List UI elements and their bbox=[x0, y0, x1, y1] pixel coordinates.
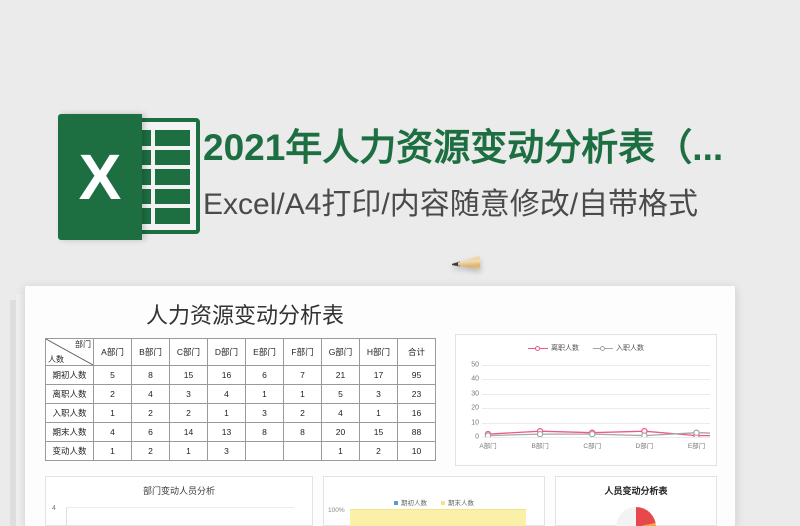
table-cell: 4 bbox=[208, 385, 246, 404]
legend-label: 期末人数 bbox=[448, 500, 474, 507]
legend-label: 入职人数 bbox=[616, 343, 644, 353]
table-cell: 2 bbox=[94, 385, 132, 404]
table-cell: 88 bbox=[398, 423, 436, 442]
table-cell: 1 bbox=[322, 442, 360, 461]
pencil-body bbox=[478, 237, 782, 269]
line-chart-legend: 离职人数入职人数 bbox=[456, 343, 716, 353]
pie-chart-panel: 人员变动分析表 bbox=[555, 476, 717, 526]
table-cell: 15 bbox=[360, 423, 398, 442]
table-cell bbox=[246, 442, 284, 461]
series-line-0 bbox=[488, 404, 710, 436]
table-row-header-0: 期初人数 bbox=[46, 366, 94, 385]
legend-label: 离职人数 bbox=[551, 343, 579, 353]
legend-item-1: 入职人数 bbox=[593, 343, 644, 353]
table-corner-cell: 部门人数 bbox=[46, 339, 94, 366]
legend-label: 期初人数 bbox=[401, 500, 427, 507]
table-cell: 13 bbox=[208, 423, 246, 442]
table-cell: 4 bbox=[94, 423, 132, 442]
x-axis-tick-0: A部门 bbox=[479, 440, 496, 450]
dept-change-chart-title: 部门变动人员分析 bbox=[46, 484, 312, 497]
series-point bbox=[694, 430, 699, 435]
corner-bottom-label: 人数 bbox=[48, 354, 64, 365]
legend-marker-icon bbox=[528, 345, 548, 352]
table-cell: 1 bbox=[246, 385, 284, 404]
series-point bbox=[590, 432, 595, 437]
table-cell: 1 bbox=[94, 404, 132, 423]
series-point bbox=[642, 433, 647, 437]
table-cell: 1 bbox=[208, 404, 246, 423]
table-column-header-1: B部门 bbox=[132, 339, 170, 366]
x-axis-tick-2: C部门 bbox=[583, 440, 601, 450]
table-cell: 8 bbox=[132, 366, 170, 385]
table-cell: 8 bbox=[246, 423, 284, 442]
table-column-header-8: 合计 bbox=[398, 339, 436, 366]
table-cell: 1 bbox=[94, 442, 132, 461]
table-cell: 17 bbox=[360, 366, 398, 385]
x-axis-tick-3: D部门 bbox=[636, 440, 654, 450]
legend-item-0: 离职人数 bbox=[528, 343, 579, 353]
table-cell: 23 bbox=[398, 385, 436, 404]
dept-change-plot-area bbox=[66, 507, 294, 526]
table-cell: 5 bbox=[94, 366, 132, 385]
y-axis-tick-5: 50 bbox=[471, 362, 479, 369]
table-row-header-4: 变动人数 bbox=[46, 442, 94, 461]
line-chart-svg bbox=[482, 365, 710, 437]
table-row: 变动人数12131210 bbox=[46, 442, 436, 461]
table-cell: 2 bbox=[132, 404, 170, 423]
stacked-chart-panel: 期初人数期末人数 100% bbox=[323, 476, 545, 526]
table-row: 离职人数2434115323 bbox=[46, 385, 436, 404]
table-row: 入职人数1221324116 bbox=[46, 404, 436, 423]
table-cell: 4 bbox=[322, 404, 360, 423]
stacked-chart-bar bbox=[350, 509, 526, 526]
stacked-legend-item-1: 期末人数 bbox=[441, 497, 474, 507]
table-cell: 3 bbox=[360, 385, 398, 404]
table-column-header-3: D部门 bbox=[208, 339, 246, 366]
table-cell: 6 bbox=[132, 423, 170, 442]
excel-icon-letter-panel: X bbox=[58, 114, 142, 240]
table-cell: 21 bbox=[322, 366, 360, 385]
table-cell: 16 bbox=[208, 366, 246, 385]
table-cell: 15 bbox=[170, 366, 208, 385]
table-cell: 8 bbox=[284, 423, 322, 442]
document-title: 人力资源变动分析表 bbox=[25, 298, 465, 330]
table-cell: 20 bbox=[322, 423, 360, 442]
table-cell: 7 bbox=[284, 366, 322, 385]
y-axis-tick-4: 40 bbox=[471, 376, 479, 383]
table-cell: 16 bbox=[398, 404, 436, 423]
stacked-legend-item-0: 期初人数 bbox=[394, 497, 427, 507]
table-cell: 3 bbox=[246, 404, 284, 423]
table-cell: 4 bbox=[132, 385, 170, 404]
legend-swatch-icon bbox=[394, 501, 398, 505]
y-axis-tick-2: 20 bbox=[471, 405, 479, 412]
table-row: 期末人数46141388201588 bbox=[46, 423, 436, 442]
table-cell: 95 bbox=[398, 366, 436, 385]
excel-icon-letter: X bbox=[79, 145, 122, 209]
dept-change-axis-value: 4 bbox=[52, 505, 56, 512]
document-sheet: 人力资源变动分析表 部门人数A部门B部门C部门D部门E部门F部门G部门H部门合计… bbox=[25, 286, 735, 526]
table-row-header-3: 期末人数 bbox=[46, 423, 94, 442]
table-column-header-2: C部门 bbox=[170, 339, 208, 366]
table-row: 期初人数58151667211795 bbox=[46, 366, 436, 385]
line-chart-panel: 离职人数入职人数 01020304050A部门B部门C部门D部门E部门F部门G部… bbox=[455, 334, 717, 466]
table-body: 期初人数58151667211795离职人数2434115323入职人数1221… bbox=[46, 366, 436, 461]
series-point bbox=[485, 433, 490, 437]
x-axis-tick-4: E部门 bbox=[688, 440, 705, 450]
table-cell: 3 bbox=[170, 385, 208, 404]
stacked-chart-legend: 期初人数期末人数 bbox=[324, 497, 544, 507]
excel-icon: X bbox=[58, 114, 206, 240]
table-column-header-6: G部门 bbox=[322, 339, 360, 366]
legend-marker-icon bbox=[593, 345, 613, 352]
table-cell: 6 bbox=[246, 366, 284, 385]
pencil-decoration bbox=[452, 237, 782, 271]
table-cell: 14 bbox=[170, 423, 208, 442]
table-cell: 1 bbox=[284, 385, 322, 404]
legend-swatch-icon bbox=[441, 501, 445, 505]
line-chart-plot: 01020304050A部门B部门C部门D部门E部门F部门G部门H部门合计 bbox=[482, 365, 710, 437]
table-column-header-7: H部门 bbox=[360, 339, 398, 366]
table-header: 部门人数A部门B部门C部门D部门E部门F部门G部门H部门合计 bbox=[46, 339, 436, 366]
hr-data-table: 部门人数A部门B部门C部门D部门E部门F部门G部门H部门合计 期初人数58151… bbox=[45, 338, 436, 461]
table-cell: 10 bbox=[398, 442, 436, 461]
y-axis-tick-3: 30 bbox=[471, 390, 479, 397]
banner: X 2021年人力资源变动分析表（... Excel/A4打印/内容随意修改/自… bbox=[0, 52, 800, 192]
stacked-chart-axis-label: 100% bbox=[328, 507, 345, 514]
table-cell bbox=[284, 442, 322, 461]
corner-top-label: 部门 bbox=[75, 339, 91, 350]
pie-chart-title: 人员变动分析表 bbox=[556, 484, 716, 497]
table-cell: 1 bbox=[360, 404, 398, 423]
table-column-header-5: F部门 bbox=[284, 339, 322, 366]
table-cell: 3 bbox=[208, 442, 246, 461]
table-column-header-4: E部门 bbox=[246, 339, 284, 366]
table-column-header-0: A部门 bbox=[94, 339, 132, 366]
banner-subtitle: Excel/A4打印/内容随意修改/自带格式 bbox=[203, 184, 793, 226]
pie-chart-graphic bbox=[616, 507, 656, 526]
table-cell: 2 bbox=[170, 404, 208, 423]
table-cell: 2 bbox=[284, 404, 322, 423]
screenshot-root: X 2021年人力资源变动分析表（... Excel/A4打印/内容随意修改/自… bbox=[0, 0, 800, 526]
gridline bbox=[482, 437, 710, 438]
banner-title: 2021年人力资源变动分析表（... bbox=[203, 122, 793, 174]
table-header-row: 部门人数A部门B部门C部门D部门E部门F部门G部门H部门合计 bbox=[46, 339, 436, 366]
table-cell: 5 bbox=[322, 385, 360, 404]
table-row-header-2: 入职人数 bbox=[46, 404, 94, 423]
table-row-header-1: 离职人数 bbox=[46, 385, 94, 404]
table-cell: 1 bbox=[170, 442, 208, 461]
dept-change-chart-panel: 部门变动人员分析 4 bbox=[45, 476, 313, 526]
table-cell: 2 bbox=[132, 442, 170, 461]
y-axis-tick-1: 10 bbox=[471, 419, 479, 426]
x-axis-tick-1: B部门 bbox=[531, 440, 548, 450]
table-cell: 2 bbox=[360, 442, 398, 461]
series-point bbox=[538, 432, 543, 437]
